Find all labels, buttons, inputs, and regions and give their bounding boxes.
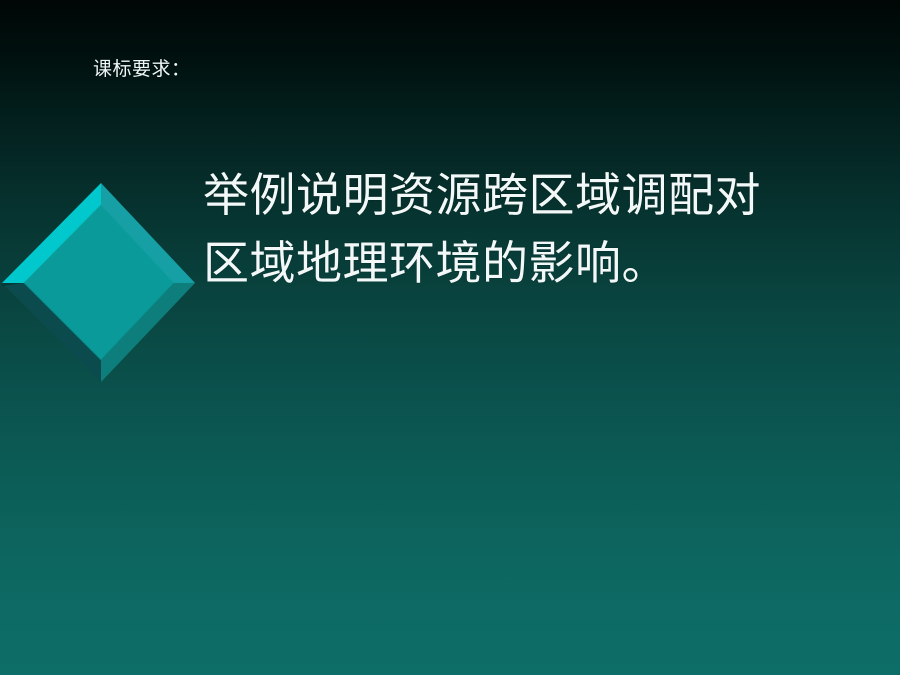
diamond-face	[24, 205, 174, 360]
body-text-line-1: 举例说明资源跨区域调配对	[203, 162, 863, 230]
slide-body-text: 举例说明资源跨区域调配对 区域地理环境的影响。	[203, 162, 863, 298]
body-text-line-2: 区域地理环境的影响。	[203, 230, 863, 298]
presentation-slide: 课标要求： 举例说明资源跨区域调配对 区域地理环境的影响。	[0, 0, 900, 675]
slide-header-label: 课标要求：	[93, 57, 191, 83]
beveled-diamond-icon	[0, 180, 200, 386]
